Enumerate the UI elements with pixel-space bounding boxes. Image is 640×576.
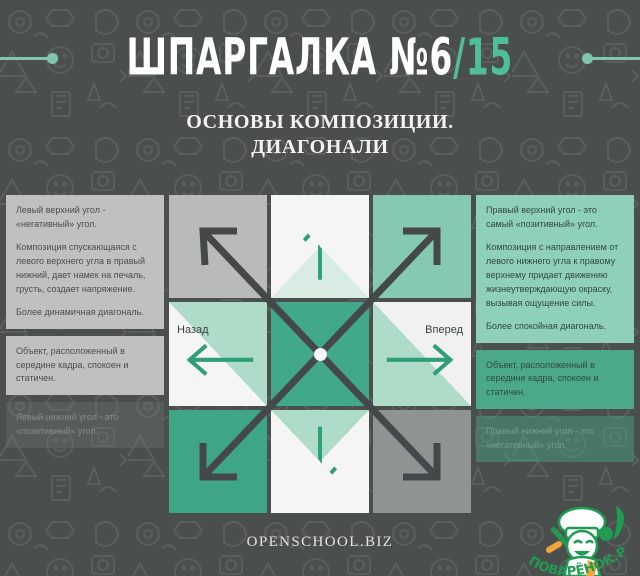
- right-spacer-1: [476, 343, 634, 350]
- right-spacer-2: [476, 409, 634, 416]
- panel-left-top-p1: Левый верхний угол - «негативный» угол.: [16, 204, 154, 232]
- grid-label-up: Вверх: [271, 201, 369, 213]
- panel-right-middle-p1: Объект, расположенный в середине кадра, …: [486, 359, 624, 401]
- panel-right-top-p3: Более спокойная диагональ.: [486, 320, 624, 334]
- panel-right-bottom-p1: Правый нижний угол - это «негативный» уг…: [486, 425, 624, 453]
- left-column: Левый верхний угол - «негативный» угол. …: [6, 195, 164, 448]
- deco-dot-left: [47, 53, 58, 64]
- panel-left-top-p2: Композиция спускающаяся с левого верхнег…: [16, 241, 154, 297]
- arrow-left-icon: [169, 302, 267, 405]
- panel-left-middle: Объект, расположенный в середине кадра, …: [6, 336, 164, 396]
- grid-cell-middle-right: Вперед: [373, 302, 471, 405]
- panel-left-bottom: Левый нижний угол - это «позитивный» уго…: [6, 402, 164, 448]
- panel-left-top-p3: Более динамичная диагональ.: [16, 306, 154, 320]
- title-row: ШПАРГАЛКА №6/15: [0, 30, 640, 86]
- deco-right: [582, 53, 640, 64]
- page-subtitle-line1: ОСНОВЫ КОМПОЗИЦИИ.: [186, 111, 453, 133]
- grid-cell-top-center: Вверх: [271, 195, 369, 298]
- page-title: ШПАРГАЛКА №6/15: [127, 32, 514, 83]
- grid-cell-bottom-right: [373, 410, 471, 513]
- left-spacer-1: [6, 329, 164, 336]
- deco-line-left: [0, 57, 47, 60]
- left-spacer-2: [6, 395, 164, 402]
- page-subtitle-line2: ДИАГОНАЛИ: [0, 135, 640, 160]
- composition-grid: Вверх Назад: [169, 195, 471, 513]
- arrow-down-icon: [271, 410, 369, 513]
- panel-right-top: Правый верхний угол - это самый «позитив…: [476, 195, 634, 343]
- infographic-root: ШПАРГАЛКА №6/15 ОСНОВЫ КОМПОЗИЦИИ. ДИАГО…: [0, 0, 640, 576]
- page-title-main: ШПАРГАЛКА №6: [127, 29, 454, 88]
- panel-left-bottom-p1: Левый нижний угол - это «позитивный» уго…: [16, 411, 154, 439]
- grid-cell-top-right: [373, 195, 471, 298]
- page-subtitle: ОСНОВЫ КОМПОЗИЦИИ. ДИАГОНАЛИ: [0, 110, 640, 160]
- header: ШПАРГАЛКА №6/15 ОСНОВЫ КОМПОЗИЦИИ. ДИАГО…: [0, 0, 640, 190]
- panel-left-middle-p1: Объект, расположенный в середине кадра, …: [16, 345, 154, 387]
- grid-cell-bottom-left: [169, 410, 267, 513]
- deco-line-right: [593, 57, 640, 60]
- arrow-right-icon: [373, 302, 471, 405]
- grid-label-down: Вниз: [271, 496, 369, 508]
- panel-left-top: Левый верхний угол - «негативный» угол. …: [6, 195, 164, 329]
- panel-right-top-p2: Композиция с направлением от левого нижн…: [486, 241, 624, 311]
- grid-cell-top-left: [169, 195, 267, 298]
- arrow-up-icon: [271, 195, 369, 298]
- panel-right-bottom: Правый нижний угол - это «негативный» уг…: [476, 416, 634, 462]
- panel-right-top-p1: Правый верхний угол - это самый «позитив…: [486, 204, 624, 232]
- page-title-accent: /15: [453, 29, 513, 88]
- body: Левый верхний угол - «негативный» угол. …: [0, 195, 640, 520]
- grid-cell-middle-left: Назад: [169, 302, 267, 405]
- povarenok-watermark: ПОВАРЁНОК.РУ: [508, 502, 636, 576]
- deco-left: [0, 53, 58, 64]
- center-dot-icon: [314, 348, 327, 361]
- deco-dot-right: [582, 53, 593, 64]
- grid-cell-bottom-center: Вниз: [271, 410, 369, 513]
- right-column: Правый верхний угол - это самый «позитив…: [476, 195, 634, 462]
- footer: OPENSCHOOL.BIZ: [0, 520, 640, 576]
- panel-right-middle: Объект, расположенный в середине кадра, …: [476, 350, 634, 410]
